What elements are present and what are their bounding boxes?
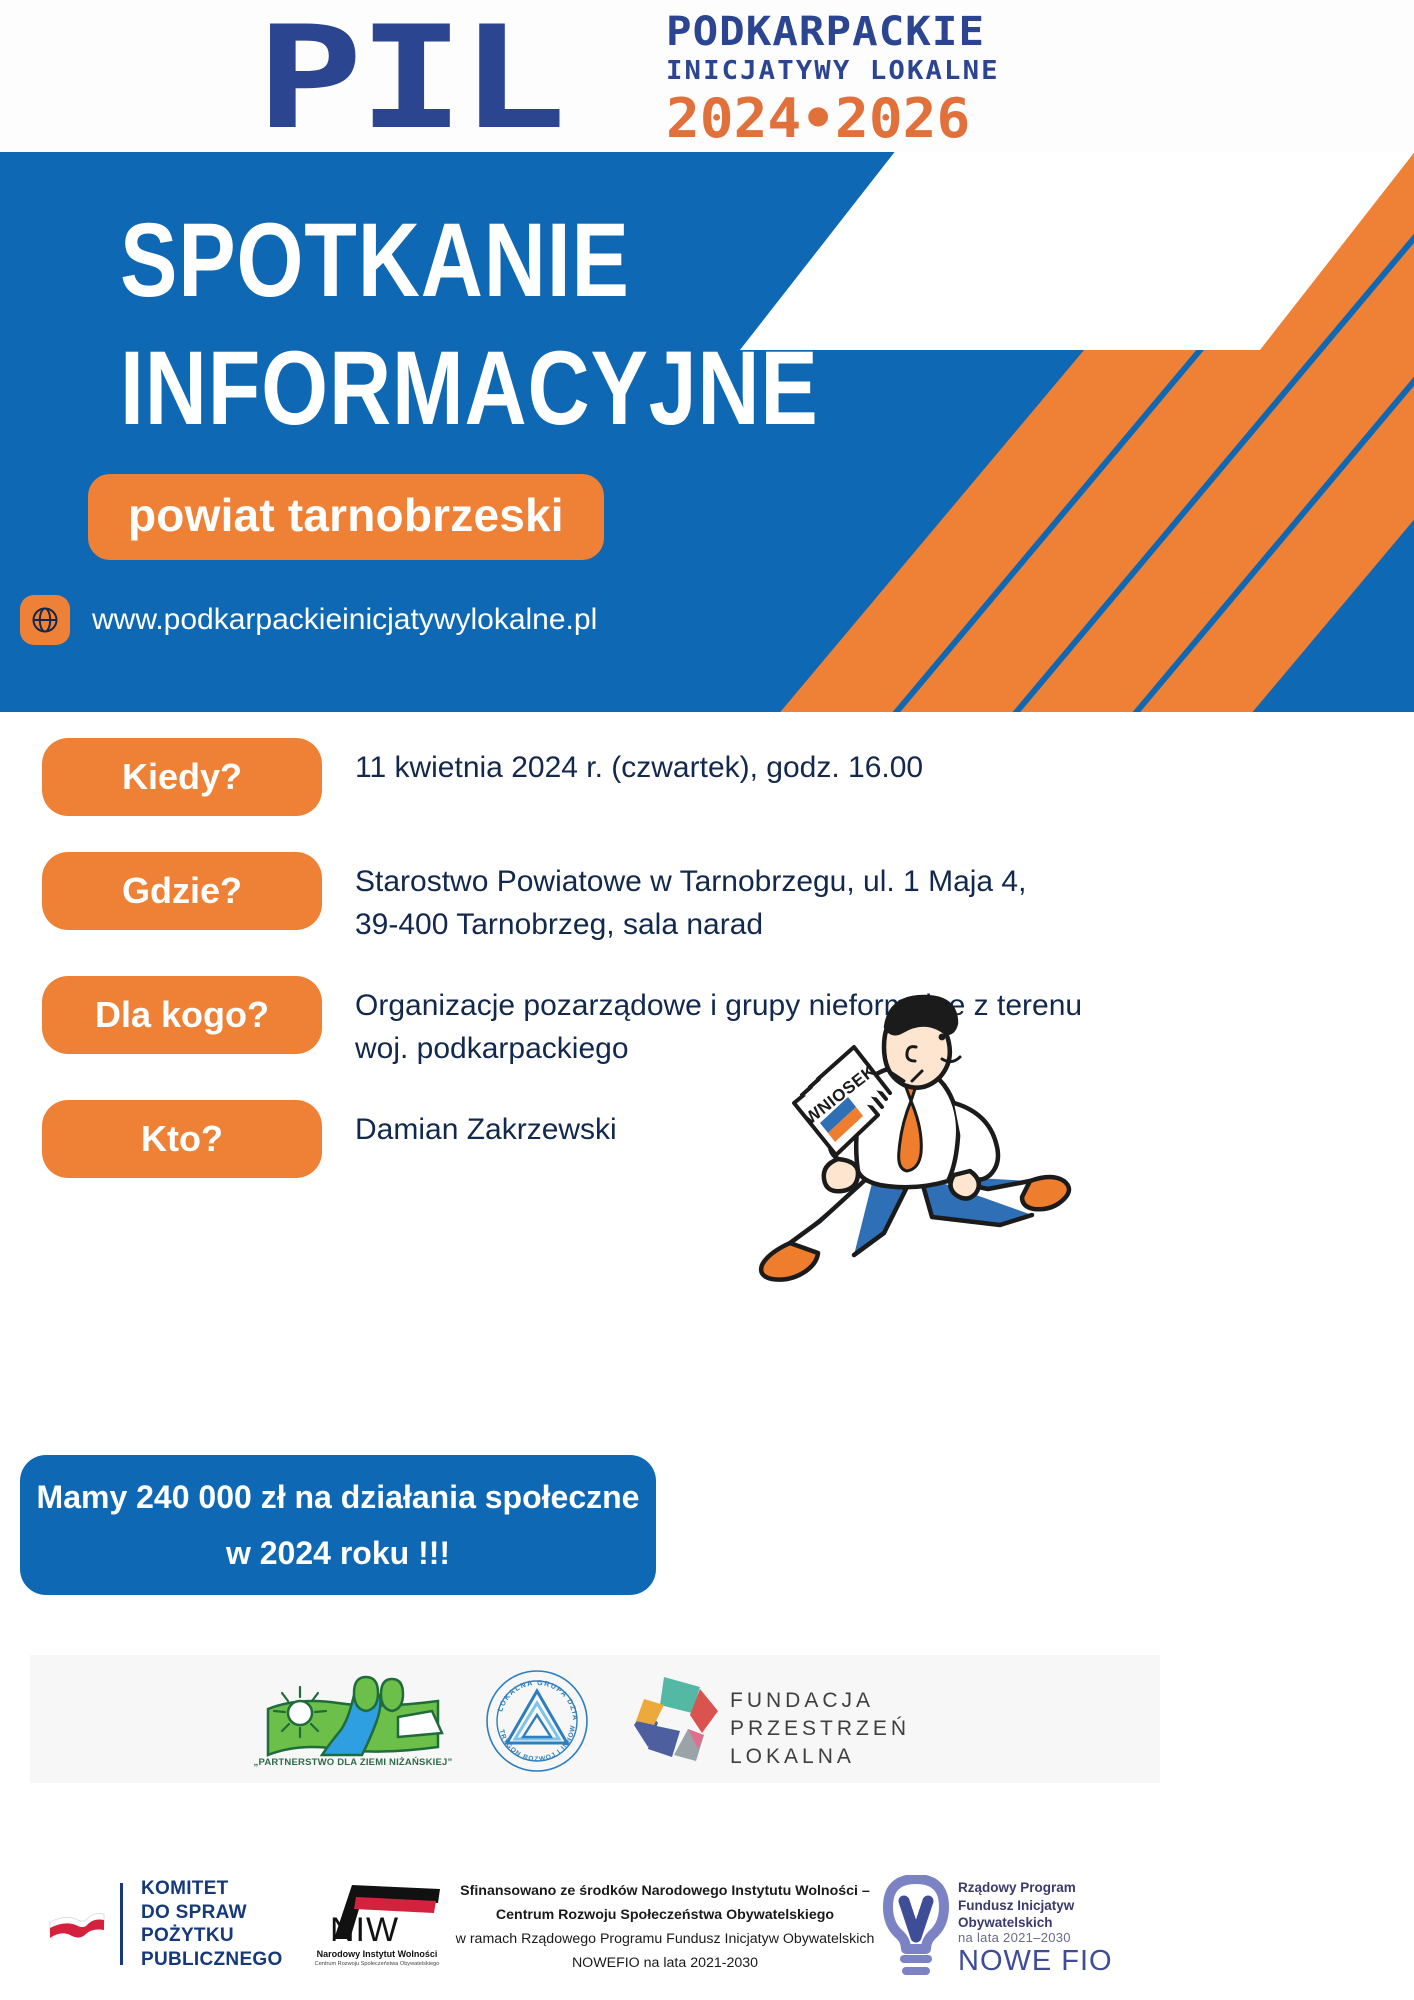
website-url[interactable]: www.podkarpackieinicjatywylokalne.pl xyxy=(92,603,597,637)
narodowy-instytut-wolnosci-logo: NIW Narodowy Instytut Wolności Centrum R… xyxy=(300,1879,450,1979)
info-label-kiedy: Kiedy? xyxy=(42,738,322,816)
funding-highlight-box: Mamy 240 000 zł na działania społeczne w… xyxy=(20,1455,656,1595)
info-value-kto: Damian Zakrzewski xyxy=(355,1100,617,1151)
info-value-kto-line-1: Damian Zakrzewski xyxy=(355,1108,617,1151)
info-row-gdzie: Gdzie? Starostwo Powiatowe w Tarnobrzegu… xyxy=(42,852,1026,946)
fio-wordmark: NOWE FIO xyxy=(958,1945,1113,1978)
fio-text-block: Rządowy Program Fundusz Inicjatyw Obywat… xyxy=(958,1879,1076,1932)
website-row[interactable]: www.podkarpackieinicjatywylokalne.pl xyxy=(20,595,597,645)
info-value-kiedy: 11 kwietnia 2024 r. (czwartek), godz. 16… xyxy=(355,738,923,789)
polish-flag-icon xyxy=(48,1908,106,1940)
partnerstwo-dla-ziemi-nizanskiej-logo: „PARTNERSTWO DLA ZIEMI NIŻAŃSKIEJ” xyxy=(258,1665,448,1777)
funding-statement: Sfinansowano ze środków Narodowego Insty… xyxy=(455,1879,875,1975)
hero-section: SPOTKANIE INFORMACYJNE powiat tarnobrzes… xyxy=(0,152,1414,712)
komitet-line-2: DO SPRAW xyxy=(141,1901,283,1925)
komitet-line-3: POŻYTKU xyxy=(141,1924,283,1948)
fio-line-4: na lata 2021–2030 xyxy=(958,1930,1071,1945)
logo-header-band: PIL PODKARPACKIE INICJATYWY LOKALNE 2024… xyxy=(0,0,1414,152)
funding-highlight-line-1: Mamy 240 000 zł na działania społeczne xyxy=(37,1469,640,1525)
info-row-kto: Kto? Damian Zakrzewski xyxy=(42,1100,617,1178)
funding-highlight-line-2: w 2024 roku !!! xyxy=(226,1525,450,1581)
info-value-kiedy-line-1: 11 kwietnia 2024 r. (czwartek), godz. 16… xyxy=(355,746,923,789)
logo-line-podkarpackie: PODKARPACKIE xyxy=(666,10,1207,54)
info-label-kto: Kto? xyxy=(42,1100,322,1178)
info-row-kiedy: Kiedy? 11 kwietnia 2024 r. (czwartek), g… xyxy=(42,738,923,816)
svg-text:NIW: NIW xyxy=(330,1911,399,1949)
funding-statement-line-4: NOWEFIO na lata 2021-2030 xyxy=(455,1951,875,1975)
niw-caption-2: Centrum Rozwoju Społeczeństwa Obywatelsk… xyxy=(302,1961,452,1967)
footer-funding-strip: KOMITET DO SPRAW POŻYTKU PUBLICZNEGO NIW… xyxy=(0,1855,1414,2000)
poster-root: PIL PODKARPACKIE INICJATYWY LOKALNE 2024… xyxy=(0,0,1414,2000)
nowe-fio-logo: Rządowy Program Fundusz Inicjatyw Obywat… xyxy=(880,1875,1210,1985)
pil-logo: PIL PODKARPACKIE INICJATYWY LOKALNE 2024… xyxy=(236,0,1186,152)
info-label-dla-kogo: Dla kogo? xyxy=(42,976,322,1054)
globe-icon xyxy=(20,595,70,645)
page-title-line-1: SPOTKANIE xyxy=(120,197,743,325)
fpl-line-2: PRZESTRZEŃ xyxy=(730,1715,910,1743)
fundacja-przestrzen-lokalna-logo: FUNDACJA PRZESTRZEŃ LOKALNA xyxy=(630,1671,890,1771)
komitet-divider xyxy=(120,1883,123,1965)
lokalna-grupa-dzialania-trygon-logo: LOKALNA GRUPA DZIA\u0141ANIA TRYGON ROZW… xyxy=(485,1669,589,1773)
info-value-gdzie: Starostwo Powiatowe w Tarnobrzegu, ul. 1… xyxy=(355,852,1026,946)
lightbulb-icon xyxy=(880,1875,952,1979)
pil-wordmark: PIL xyxy=(256,8,562,150)
komitet-line-4: PUBLICZNEGO xyxy=(141,1948,283,1972)
logo-line-inicjatywy-lokalne: INICJATYWY LOKALNE xyxy=(666,54,1202,88)
funding-statement-line-1: Sfinansowano ze środków Narodowego Insty… xyxy=(455,1879,875,1903)
komitet-do-spraw-pozytku-publicznego-logo: KOMITET DO SPRAW POŻYTKU PUBLICZNEGO xyxy=(48,1877,283,1971)
info-value-gdzie-line-1: Starostwo Powiatowe w Tarnobrzegu, ul. 1… xyxy=(355,860,1026,903)
page-title-line-2: INFORMACYJNE xyxy=(120,325,743,453)
fpl-line-1: FUNDACJA xyxy=(730,1687,910,1715)
county-badge: powiat tarnobrzeski xyxy=(88,474,604,560)
running-man-illustration: WNIOSEK xyxy=(670,975,1100,1305)
pil-logo-text-block: PODKARPACKIE INICJATYWY LOKALNE 2024•202… xyxy=(666,10,1176,148)
komitet-line-1: KOMITET xyxy=(141,1877,283,1901)
info-value-gdzie-line-2: 39-400 Tarnobrzeg, sala narad xyxy=(355,903,1026,946)
funding-statement-line-3: w ramach Rządowego Programu Fundusz Inic… xyxy=(455,1927,875,1951)
info-label-gdzie: Gdzie? xyxy=(42,852,322,930)
partner-logos-band: „PARTNERSTWO DLA ZIEMI NIŻAŃSKIEJ” LOKAL… xyxy=(30,1655,1160,1783)
niw-caption-1: Narodowy Instytut Wolności xyxy=(302,1949,452,1959)
fio-line-3: Obywatelskich xyxy=(958,1914,1076,1932)
fio-line-1: Rządowy Program xyxy=(958,1879,1076,1897)
funding-statement-line-2: Centrum Rozwoju Społeczeństwa Obywatelsk… xyxy=(455,1903,875,1927)
fpl-line-3: LOKALNA xyxy=(730,1743,910,1771)
fio-line-2: Fundusz Inicjatyw xyxy=(958,1897,1076,1915)
page-title: SPOTKANIE INFORMACYJNE xyxy=(120,197,743,453)
svg-text:LOKALNA GRUPA DZIA\u0141ANIA: LOKALNA GRUPA DZIA\u0141ANIA xyxy=(485,1669,580,1722)
komitet-text: KOMITET DO SPRAW POŻYTKU PUBLICZNEGO xyxy=(141,1877,283,1971)
logo-line-years: 2024•2026 xyxy=(666,90,1196,148)
partner-caption-1: „PARTNERSTWO DLA ZIEMI NIŻAŃSKIEJ” xyxy=(246,1757,460,1768)
fundacja-przestrzen-lokalna-text: FUNDACJA PRZESTRZEŃ LOKALNA xyxy=(730,1687,910,1771)
